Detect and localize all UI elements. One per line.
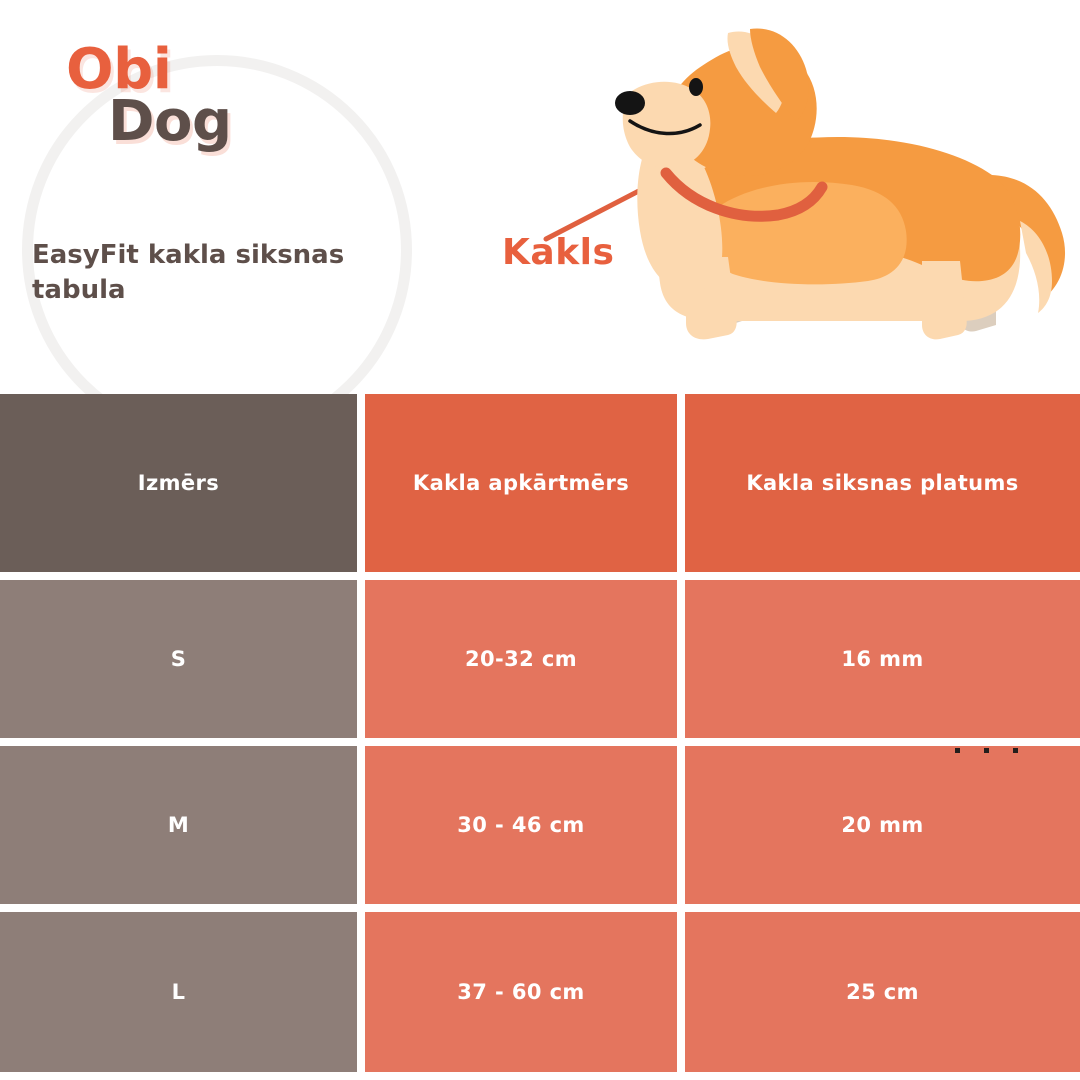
size-chart-infographic: Obi Dog EasyFit kakla siksnas tabula Kak… (0, 0, 1080, 1080)
kakls-label: Kakls (502, 232, 614, 273)
brand-logo: Obi Dog (0, 44, 440, 147)
page-title: EasyFit kakla siksnas tabula (32, 238, 382, 308)
dog-hind-leg-near (922, 261, 967, 339)
table-row: L 37 - 60 cm 25 cm (0, 912, 1080, 1072)
divider-dot (1013, 748, 1018, 753)
divider-dot (984, 748, 989, 753)
dog-eye (689, 78, 703, 96)
cell-size-m: M (0, 746, 357, 904)
corgi-dog-illustration (600, 25, 1080, 355)
cell-strap-width-m: 20 mm (685, 746, 1080, 904)
dog-nose (615, 91, 645, 115)
brand-name-line-1: Obi (66, 44, 440, 96)
header-cell-size: Izmērs (0, 394, 357, 572)
table-row: S 20-32 cm 16 mm (0, 580, 1080, 738)
cell-size-s: S (0, 580, 357, 738)
cell-strap-width-l: 25 cm (685, 912, 1080, 1072)
cell-size-l: L (0, 912, 357, 1072)
cell-circumference-m: 30 - 46 cm (365, 746, 677, 904)
table-header-row: Izmērs Kakla apkārtmērs Kakla siksnas pl… (0, 394, 1080, 572)
divider-dots-marker (955, 748, 1025, 756)
brand-name-line-2: Dog (108, 96, 440, 148)
cell-strap-width-s: 16 mm (685, 580, 1080, 738)
header-cell-strap-width: Kakla siksnas platums (685, 394, 1080, 572)
cell-circumference-s: 20-32 cm (365, 580, 677, 738)
cell-circumference-l: 37 - 60 cm (365, 912, 677, 1072)
size-table: Izmērs Kakla apkārtmērs Kakla siksnas pl… (0, 394, 1080, 1072)
header-cell-circumference: Kakla apkārtmērs (365, 394, 677, 572)
divider-dot (955, 748, 960, 753)
table-row: M 30 - 46 cm 20 mm (0, 746, 1080, 904)
